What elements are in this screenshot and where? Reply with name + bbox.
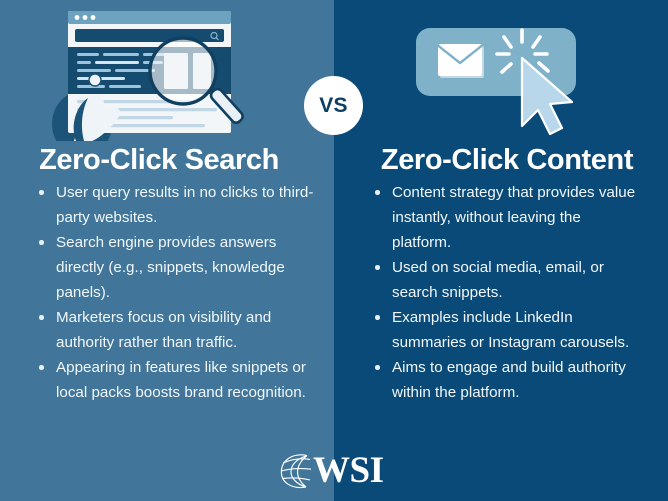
left-column-title: Zero-Click Search	[0, 143, 334, 177]
bullet-text: Appearing in features like snippets or l…	[56, 359, 306, 401]
right-column-title: Zero-Click Content	[334, 143, 668, 177]
wsi-logo: WSI	[277, 449, 393, 492]
left-comparison-panel: Zero-Click Search User query results in …	[0, 0, 334, 501]
bullet-dot	[375, 365, 380, 370]
pointer-finger-tip	[89, 74, 101, 86]
list-item: Search engine provides answers directly …	[36, 230, 314, 305]
bullet-dot	[39, 190, 44, 195]
bullet-dot	[39, 315, 44, 320]
bullet-text: Marketers focus on visibility and author…	[56, 309, 271, 351]
list-item: User query results in no clicks to third…	[36, 180, 314, 230]
infographic-root: Zero-Click Search User query results in …	[0, 0, 668, 501]
bullet-text: Examples include LinkedIn summaries or I…	[392, 309, 629, 351]
globe-icon	[277, 451, 317, 491]
versus-badge: VS	[304, 76, 363, 135]
email-click-cursor-illustration	[410, 18, 600, 138]
search-results-browser-illustration	[46, 6, 281, 141]
bullet-dot	[375, 315, 380, 320]
list-item: Aims to engage and build authority withi…	[372, 355, 644, 405]
bullet-text: Used on social media, email, or search s…	[392, 259, 604, 301]
list-item: Examples include LinkedIn summaries or I…	[372, 305, 644, 355]
right-comparison-panel: Zero-Click Content Content strategy that…	[334, 0, 668, 501]
search-bar	[75, 29, 224, 42]
list-item: Used on social media, email, or search s…	[372, 255, 644, 305]
bullet-text: Aims to engage and build authority withi…	[392, 359, 626, 401]
list-item: Marketers focus on visibility and author…	[36, 305, 314, 355]
bullet-dot	[375, 265, 380, 270]
list-item: Content strategy that provides value ins…	[372, 180, 644, 255]
bullet-text: Search engine provides answers directly …	[56, 234, 285, 301]
window-dot	[83, 15, 88, 20]
window-dot	[91, 15, 96, 20]
envelope-icon	[438, 44, 484, 78]
bullet-text: User query results in no clicks to third…	[56, 184, 313, 226]
wsi-wordmark: WSI	[313, 452, 383, 489]
bullet-dot	[39, 365, 44, 370]
bullet-text: Content strategy that provides value ins…	[392, 184, 635, 251]
left-bullet-list: User query results in no clicks to third…	[36, 180, 314, 405]
window-dot	[75, 15, 80, 20]
versus-label: VS	[319, 94, 348, 118]
bullet-dot	[375, 190, 380, 195]
list-item: Appearing in features like snippets or l…	[36, 355, 314, 405]
bullet-dot	[39, 240, 44, 245]
right-bullet-list: Content strategy that provides value ins…	[372, 180, 644, 405]
